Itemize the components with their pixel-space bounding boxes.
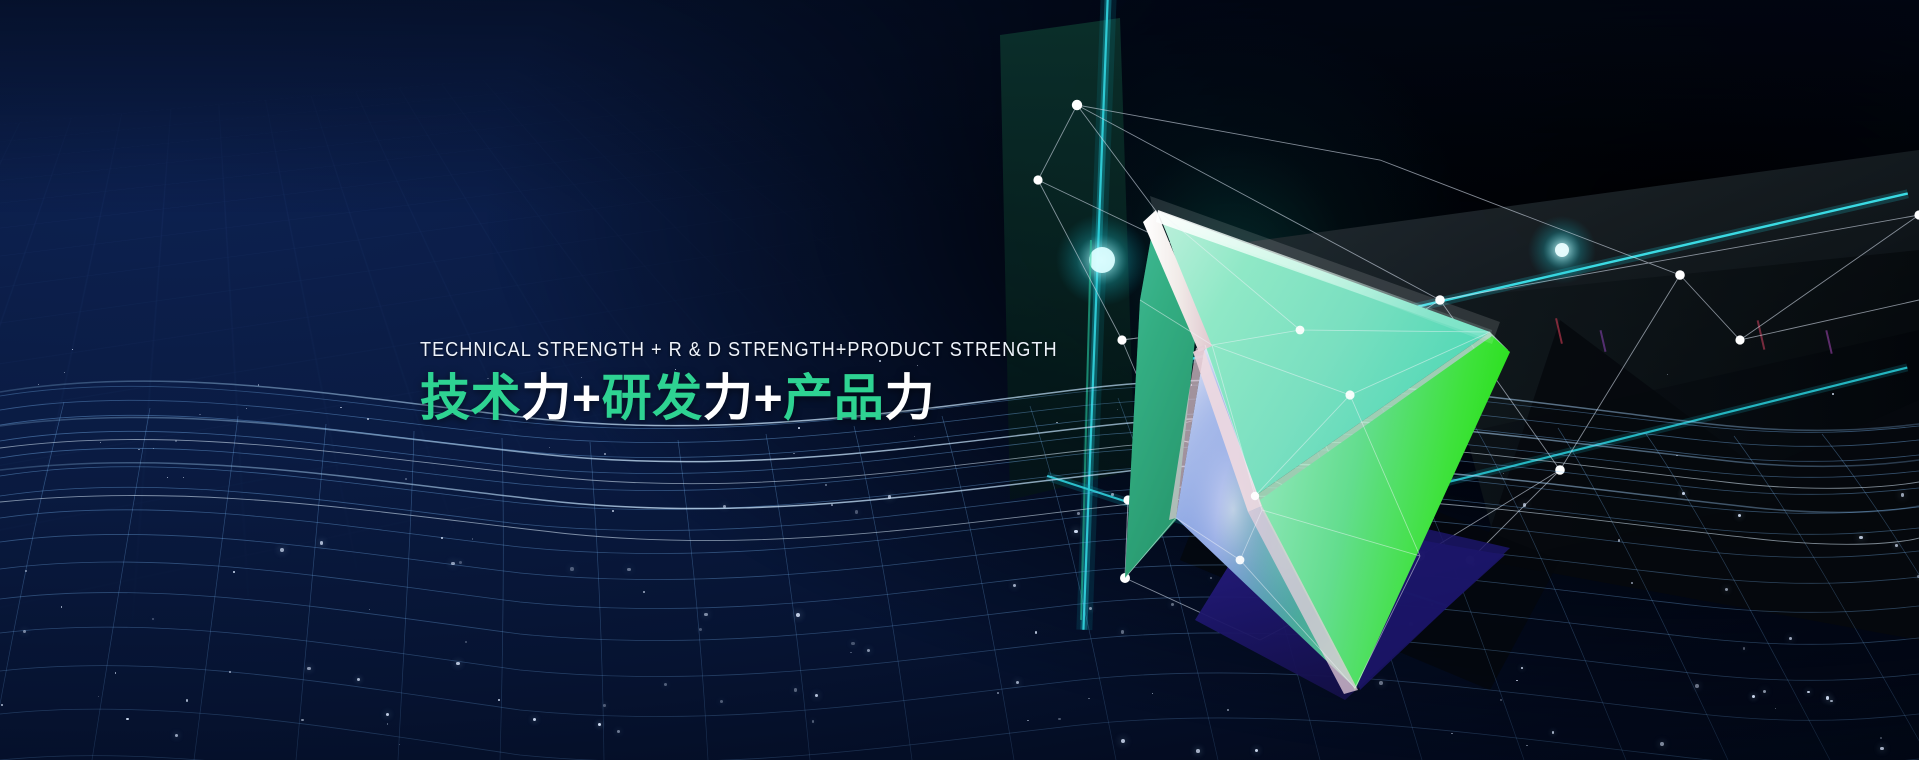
particle: [1695, 684, 1699, 688]
particle: [1832, 393, 1834, 395]
particle: [798, 427, 800, 429]
particle: [98, 696, 99, 697]
particle: [1667, 374, 1668, 375]
particle: [914, 436, 915, 437]
particle: [23, 630, 26, 633]
particle: [1431, 603, 1434, 606]
headline-segment-5: +: [753, 370, 783, 426]
headline-segment-4: 力: [703, 370, 754, 426]
particle: [498, 699, 500, 701]
hero-eyebrow: TECHNICAL STRENGTH + R & D STRENGTH+PROD…: [420, 338, 1058, 362]
particle: [850, 652, 852, 654]
particle: [1210, 577, 1213, 580]
particle: [1089, 607, 1092, 610]
particle: [405, 478, 407, 480]
particle: [25, 570, 27, 572]
particle: [465, 641, 467, 643]
headline-segment-6: 产品: [783, 370, 884, 426]
particle: [1121, 630, 1125, 634]
particle: [1035, 631, 1038, 634]
particle: [699, 628, 703, 632]
particle: [1895, 544, 1898, 547]
particle: [357, 678, 360, 681]
particle: [258, 384, 259, 385]
particle: [1171, 603, 1174, 606]
particle: [855, 510, 859, 514]
particle: [1058, 718, 1061, 721]
particle: [1725, 588, 1728, 591]
particle: [720, 700, 723, 703]
particle: [1682, 492, 1685, 495]
particle: [1111, 493, 1114, 496]
particle: [612, 510, 614, 512]
particle: [1196, 749, 1200, 753]
particle: [280, 548, 284, 552]
particle: [1752, 695, 1755, 698]
particle: [1738, 514, 1741, 517]
particle: [246, 408, 247, 409]
particle: [1471, 562, 1475, 566]
particle: [1074, 530, 1078, 534]
hero-banner: TECHNICAL STRENGTH + R & D STRENGTH+PROD…: [0, 0, 1919, 760]
particle: [1401, 492, 1403, 494]
particle: [851, 642, 855, 646]
particle: [369, 609, 371, 611]
particle: [340, 407, 341, 408]
particle: [459, 561, 462, 564]
particle: [570, 567, 574, 571]
particle: [387, 723, 388, 724]
particle: [386, 713, 390, 717]
particle: [1379, 681, 1383, 685]
particle: [1174, 379, 1175, 380]
particle: [1660, 742, 1664, 746]
particle: [367, 418, 369, 420]
particle: [167, 477, 168, 478]
particle: [1523, 503, 1527, 507]
particle: [1027, 720, 1028, 721]
particle: [38, 384, 39, 385]
particle: [1743, 647, 1746, 650]
headline-segment-7: 力: [884, 370, 935, 426]
particle: [115, 672, 116, 673]
particle: [598, 723, 601, 726]
particle: [1807, 691, 1810, 694]
particle: [451, 562, 455, 566]
particle: [1016, 681, 1019, 684]
particle: [1374, 404, 1375, 405]
particle: [1516, 680, 1518, 682]
particle: [1149, 478, 1151, 480]
particle: [723, 505, 726, 508]
particle: [1013, 584, 1016, 587]
particle: [399, 744, 401, 746]
particle: [604, 453, 606, 455]
particle: [1225, 408, 1227, 410]
particle: [1227, 709, 1229, 711]
particle: [793, 453, 795, 455]
particle: [1500, 699, 1502, 701]
particle: [1789, 637, 1792, 640]
particle: [1775, 708, 1777, 710]
particle: [1826, 696, 1830, 700]
particle: [1859, 536, 1863, 540]
particle: [867, 649, 870, 652]
particle: [1088, 698, 1090, 700]
particle: [1521, 667, 1524, 670]
particle: [603, 704, 606, 707]
particle: [229, 671, 231, 673]
particle: [1618, 539, 1621, 542]
particle: [815, 694, 818, 697]
particle: [183, 477, 184, 478]
particle: [1350, 371, 1352, 373]
particle: [1146, 458, 1148, 460]
particle: [1, 704, 3, 706]
particle: [472, 538, 474, 540]
particle: [1438, 422, 1440, 424]
particle: [888, 495, 892, 499]
particle: [456, 662, 460, 666]
particle: [643, 591, 645, 593]
particle: [1409, 622, 1413, 626]
particle: [441, 537, 443, 539]
particle: [1451, 733, 1453, 735]
particle: [175, 440, 177, 442]
particle: [831, 504, 833, 506]
headline-segment-0: 技术: [420, 370, 521, 426]
particle: [1880, 737, 1882, 739]
particle: [100, 442, 102, 444]
particle: [1503, 473, 1504, 474]
particle: [617, 730, 620, 733]
particle: [152, 618, 155, 621]
particle: [1526, 745, 1528, 747]
particle: [1121, 739, 1125, 743]
particle: [664, 683, 667, 686]
headline-segment-3: 研发: [602, 370, 703, 426]
particle: [1552, 731, 1555, 734]
particle: [64, 372, 65, 373]
particle: [1880, 747, 1884, 751]
particle: [301, 719, 303, 721]
particle: [233, 571, 235, 573]
particle: [320, 541, 323, 544]
particle: [1255, 749, 1258, 752]
particle: [533, 718, 536, 721]
particle: [1676, 455, 1678, 457]
headline-segment-2: +: [572, 370, 602, 426]
hero-headline: 技术力+研发力+产品力: [420, 371, 1140, 425]
particle: [1077, 512, 1080, 515]
particle: [796, 613, 800, 617]
particle: [794, 688, 798, 692]
headline-segment-1: 力: [521, 370, 572, 426]
particle: [549, 447, 550, 448]
particle: [175, 734, 178, 737]
particle: [704, 613, 708, 617]
particle: [1763, 690, 1767, 694]
particle: [72, 349, 73, 350]
particle: [1830, 700, 1833, 703]
particle: [138, 449, 140, 451]
particle: [1901, 493, 1905, 497]
particle: [1152, 693, 1154, 695]
particle: [1191, 384, 1192, 385]
particle: [1423, 551, 1426, 554]
particle: [1631, 582, 1633, 584]
particle: [199, 414, 201, 416]
hero-text-block: TECHNICAL STRENGTH + R & D STRENGTH+PROD…: [420, 338, 1140, 425]
particle: [61, 606, 63, 608]
particle: [1294, 517, 1296, 519]
particle: [1394, 407, 1395, 408]
particle: [153, 448, 154, 449]
particle: [186, 699, 188, 701]
particle: [997, 692, 999, 694]
particle: [627, 568, 631, 572]
particle: [1388, 540, 1391, 543]
particle: [812, 720, 815, 723]
particle: [126, 718, 129, 721]
particle: [307, 667, 310, 670]
particle: [1447, 472, 1449, 474]
particle: [825, 484, 826, 485]
